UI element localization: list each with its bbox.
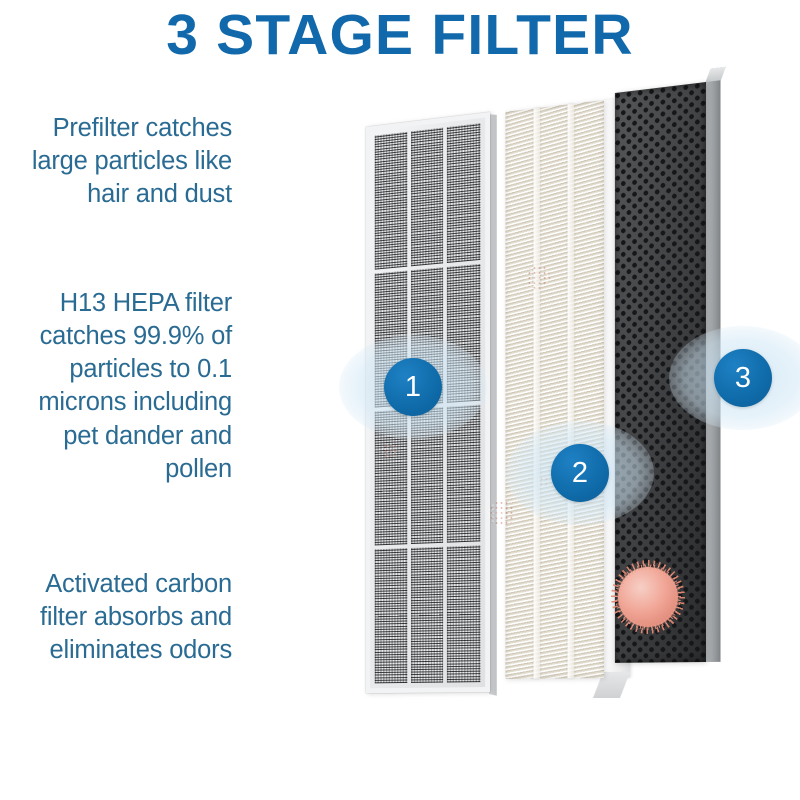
prefilter-mesh-cell <box>375 132 407 270</box>
infographic-canvas: 3 STAGE FILTER Prefilter catches large p… <box>0 0 800 800</box>
stage-badge-2: 2 <box>505 418 655 528</box>
prefilter-mesh-cell <box>411 547 444 683</box>
description-prefilter: Prefilter catches large particles like h… <box>0 112 232 211</box>
stage-badge-3: 3 <box>668 323 800 433</box>
hepa-pleated-media <box>505 100 604 679</box>
hepa-rib <box>533 108 540 679</box>
virus-particle-large-icon <box>618 567 678 627</box>
particle-on-prefilter-icon <box>382 443 398 459</box>
particle-on-hepa-upper-icon <box>526 265 550 289</box>
prefilter-mesh-cell <box>447 123 480 263</box>
prefilter-edge <box>489 114 497 696</box>
prefilter-mesh-cell <box>375 548 407 683</box>
description-carbon: Activated carbon filter absorbs and elim… <box>0 568 232 667</box>
prefilter-mesh-cell <box>447 545 480 682</box>
description-hepa: H13 HEPA filter catches 99.9% of particl… <box>0 287 232 486</box>
badge-number-1: 1 <box>384 358 442 416</box>
hepa-rib <box>568 104 575 679</box>
page-title: 3 STAGE FILTER <box>0 6 800 66</box>
badge-number-3: 3 <box>714 349 772 407</box>
hepa-panel <box>505 100 604 679</box>
filter-stack-illustration: 1 2 3 <box>330 80 800 760</box>
badge-number-2: 2 <box>551 444 609 502</box>
prefilter-mesh-cell <box>411 128 444 267</box>
stage-badge-1: 1 <box>338 332 488 442</box>
